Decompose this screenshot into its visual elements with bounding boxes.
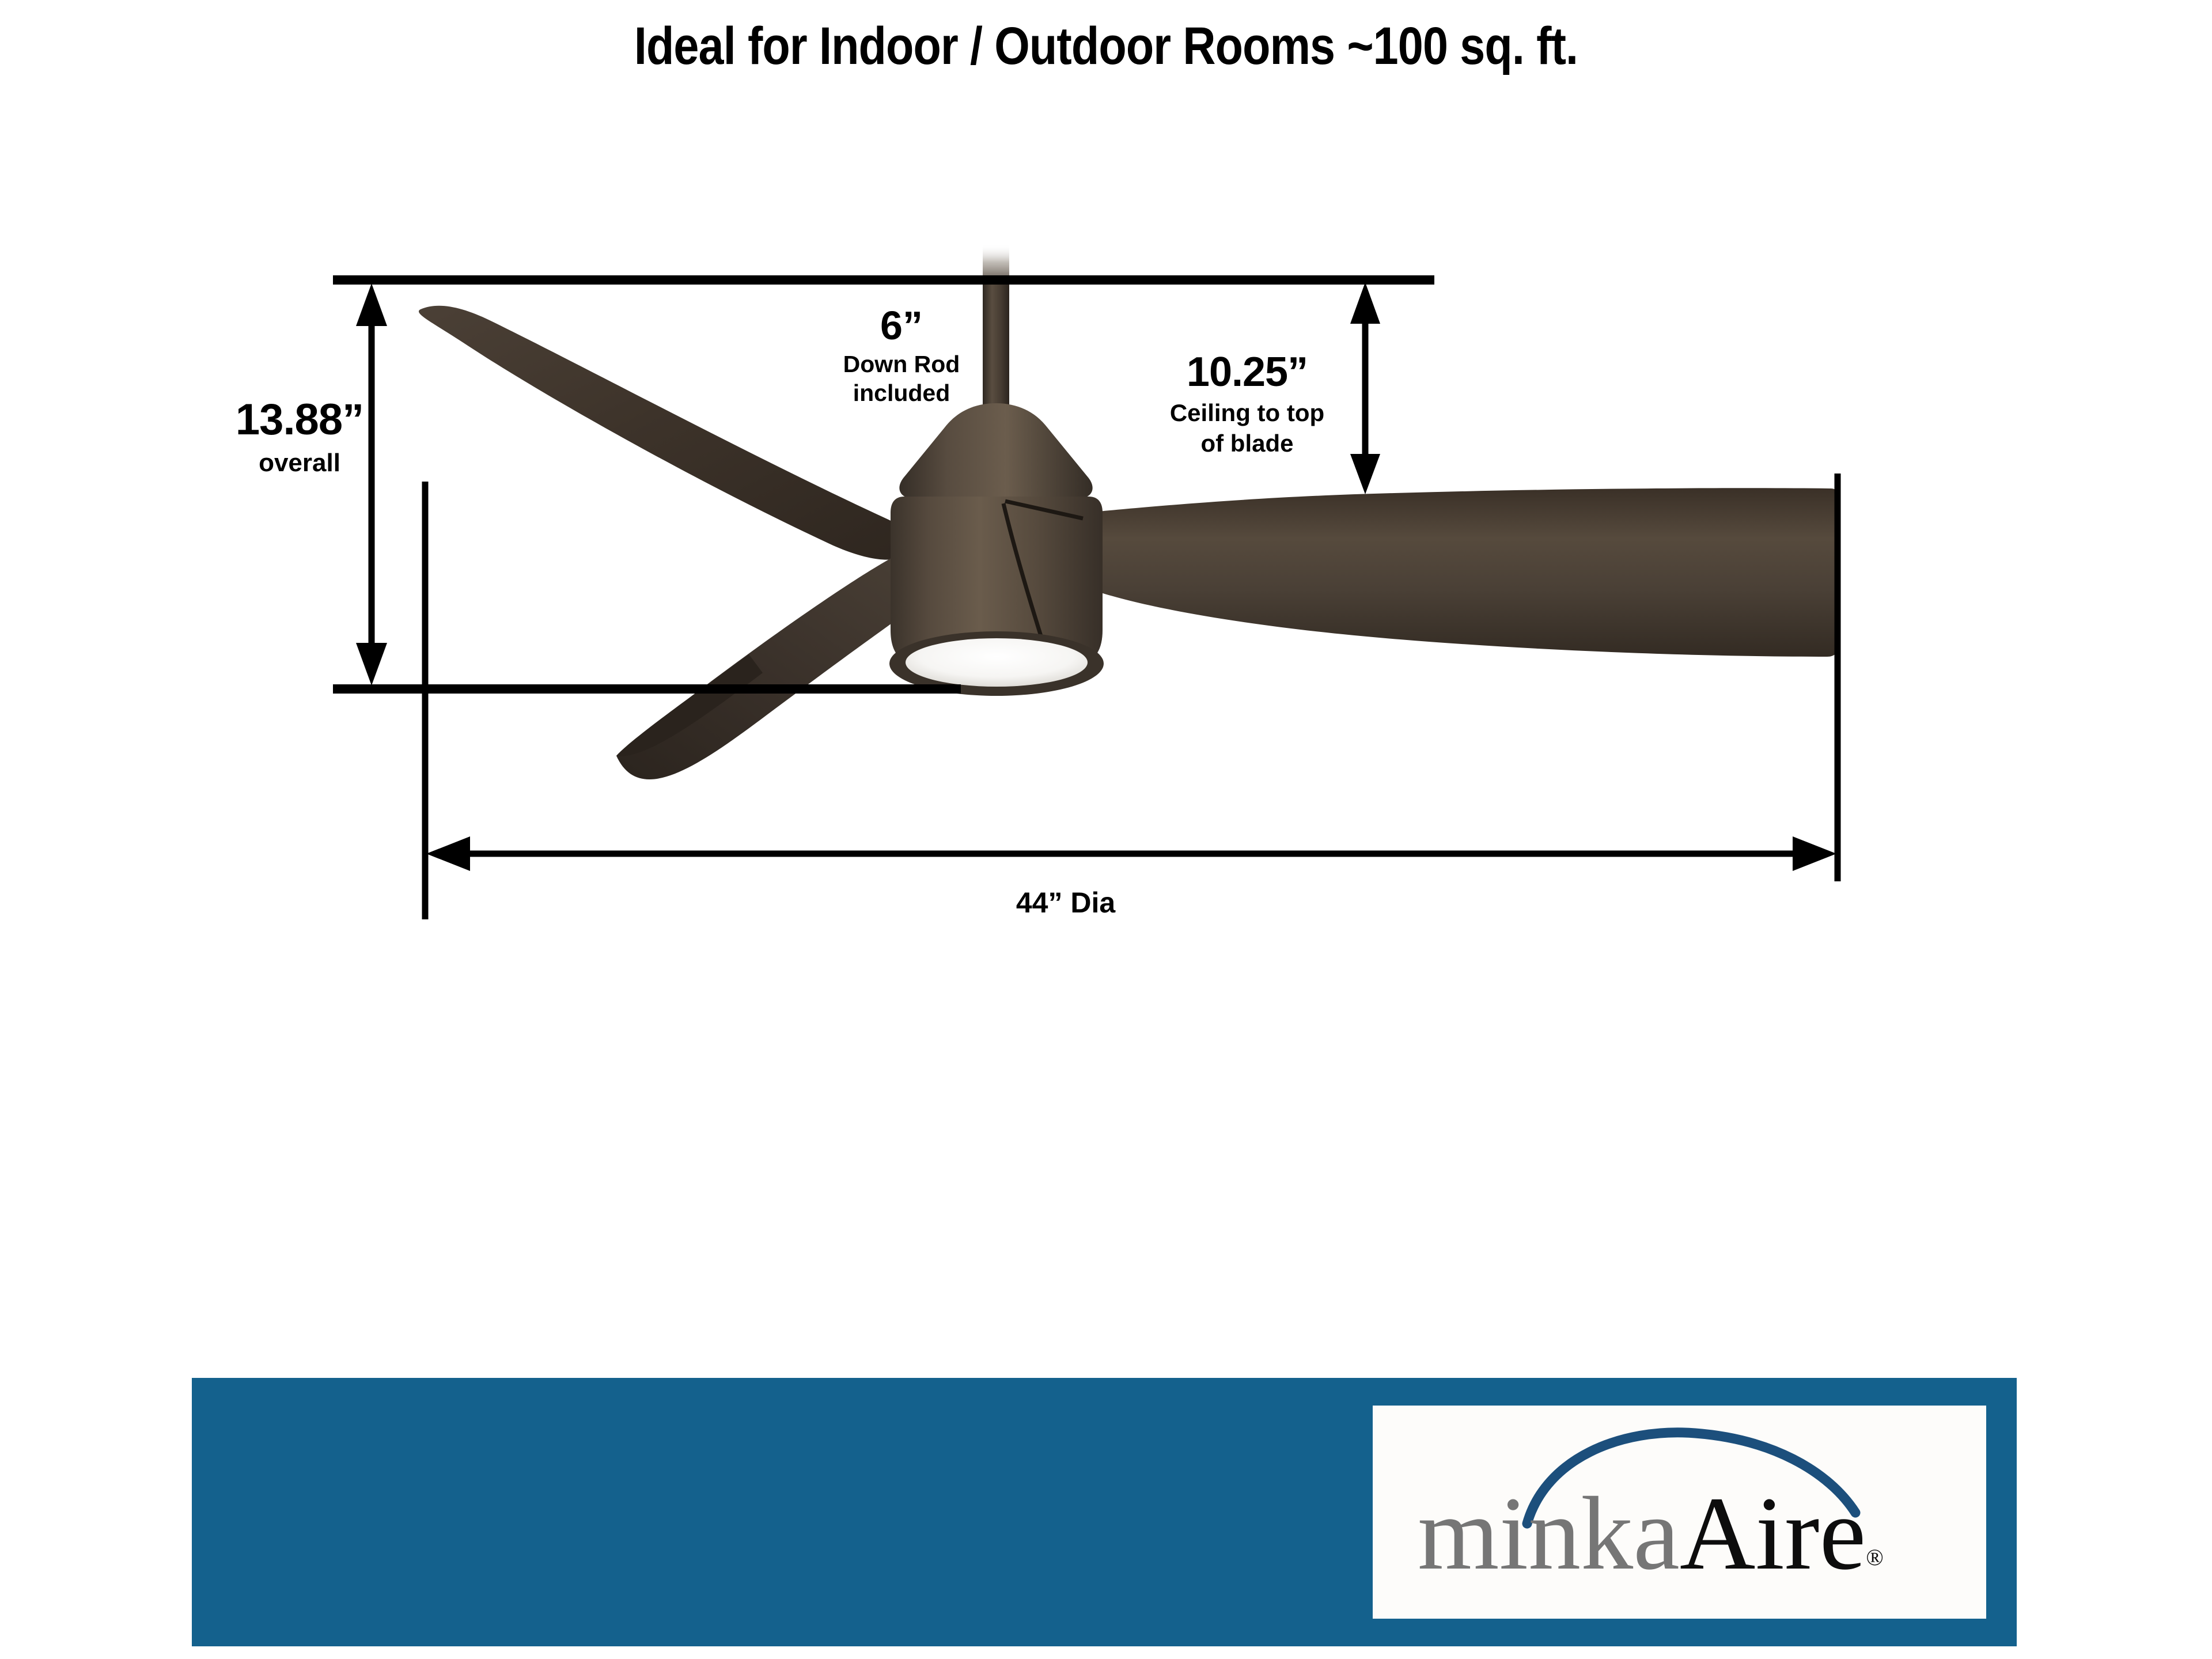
ceiling-to-blade-sublabel-line1: Ceiling to top — [1135, 400, 1359, 426]
brand-wordmark-aire: Aire — [1680, 1476, 1866, 1592]
overall-arrow-down — [356, 643, 387, 685]
brand-logo: minkaAire® — [1373, 1406, 1986, 1619]
fan-blade-lower-left — [616, 554, 933, 779]
brand-wordmark-minka: minka — [1418, 1476, 1680, 1592]
fan-blade-right — [1077, 488, 1839, 657]
down-rod-sublabel-line2: included — [806, 380, 997, 406]
overall-height-value: 13.88” — [190, 396, 409, 444]
blade-diameter-value: 44” Dia — [922, 887, 1210, 918]
dia-arrow-right — [1793, 836, 1836, 871]
ceiling-to-blade-sublabel-line2: of blade — [1135, 430, 1359, 456]
fan-dimension-diagram — [0, 0, 2212, 1008]
fan-canopy — [899, 403, 1092, 499]
overall-height-sublabel: overall — [190, 449, 409, 477]
dimension-label-down-rod: 6” Down Rod included — [806, 304, 997, 406]
light-lens — [906, 638, 1088, 687]
down-rod-sublabel-line1: Down Rod — [806, 351, 997, 377]
fan-illustration-svg — [0, 0, 2212, 1008]
dimension-label-ceiling-to-blade: 10.25” Ceiling to top of blade — [1135, 350, 1359, 456]
dimension-sheet-page: Ideal for Indoor / Outdoor Rooms ~100 sq… — [0, 0, 2212, 1659]
fan-assembly — [419, 244, 1839, 779]
registered-trademark-icon: ® — [1866, 1544, 1883, 1570]
ceiling-to-blade-value: 10.25” — [1135, 350, 1359, 395]
dimension-label-overall-height: 13.88” overall — [190, 396, 409, 477]
ceiling-blade-arrow-up — [1350, 282, 1380, 324]
dia-arrow-left — [426, 836, 470, 871]
down-rod-value: 6” — [806, 304, 997, 348]
dimension-label-blade-diameter: 44” Dia — [922, 887, 1210, 918]
overall-arrow-up — [356, 283, 387, 326]
ceiling-blade-arrow-down — [1350, 454, 1380, 494]
brand-wordmark: minkaAire® — [1418, 1482, 1884, 1586]
